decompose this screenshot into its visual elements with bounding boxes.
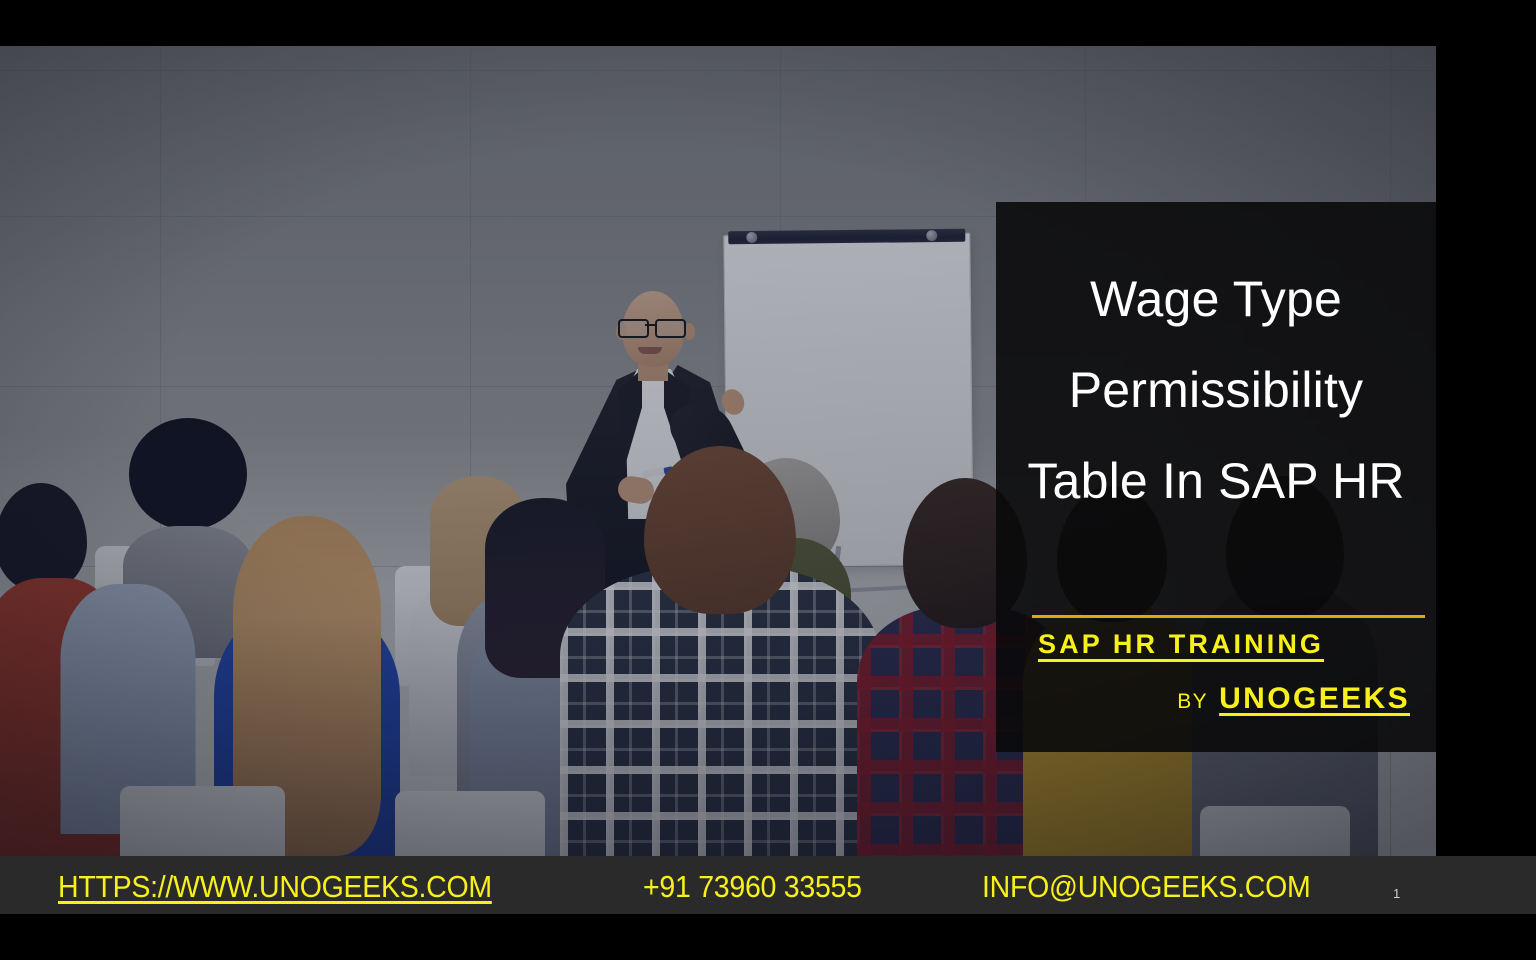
chair-front-centre [395, 791, 545, 856]
chair-front-right [1200, 806, 1350, 856]
flipchart-clamp-bar [728, 229, 965, 244]
audience-person-plaid-shirt [560, 446, 880, 856]
presenter-mouth [638, 347, 662, 354]
footer-phone: +91 73960 33555 [643, 869, 862, 905]
chair-front-left [120, 786, 285, 856]
title-line-2: Permissibility [1020, 345, 1412, 436]
title-line-1: Wage Type [1020, 254, 1412, 345]
accent-divider [1032, 615, 1425, 618]
footer-website-link[interactable]: HTTPS://WWW.UNOGEEKS.COM [58, 869, 492, 905]
title-line-3: Table In SAP HR [1020, 436, 1412, 527]
title-panel: Wage Type Permissibility Table In SAP HR… [996, 202, 1436, 752]
footer-email: INFO@UNOGEEKS.COM [982, 869, 1310, 905]
course-label: SAP HR TRAINING [1038, 629, 1324, 660]
presenter-glasses [618, 319, 688, 334]
byline: BY UNOGEEKS [1177, 682, 1410, 716]
brand-name: UNOGEEKS [1219, 682, 1410, 716]
footer-bar: HTTPS://WWW.UNOGEEKS.COM +91 73960 33555… [0, 856, 1536, 914]
byline-prefix: BY [1177, 690, 1208, 714]
page-number: 1 [1393, 886, 1400, 901]
head [644, 446, 796, 614]
slide-root: Wage Type Permissibility Table In SAP HR… [0, 0, 1536, 960]
page-title: Wage Type Permissibility Table In SAP HR [996, 254, 1436, 527]
